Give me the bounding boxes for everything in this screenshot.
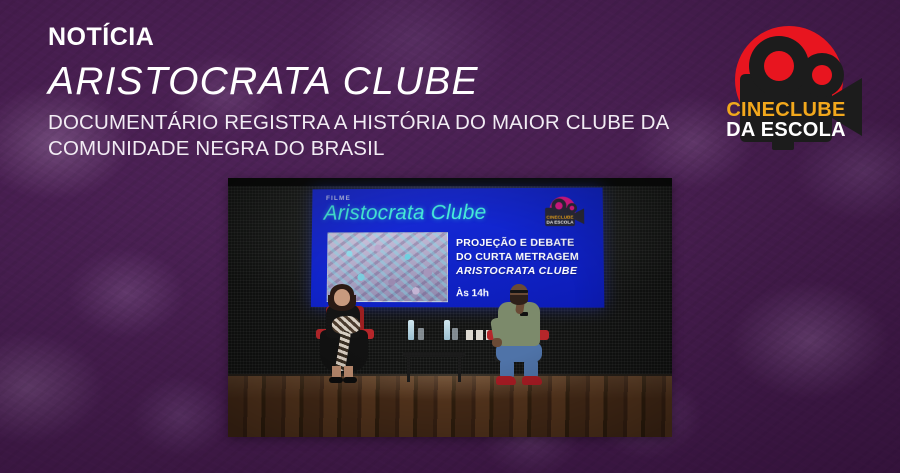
screen-film-title: Aristocrata Clube [324,201,487,225]
camera-foot [772,140,794,150]
stage-floor [228,374,672,437]
camera-reel-large-hole [764,51,794,81]
man-sneaker-left [496,376,516,385]
film-camera-icon: CINECLUBE DA ESCOLA [710,14,892,164]
logo-line2: DA ESCOLA [726,119,846,141]
man-hand-left [492,338,502,347]
page-title: ARISTOCRATA CLUBE [48,62,728,101]
screen-body-text: PROJEÇÃO E DEBATE DO CURTA METRAGEM ARIS… [456,236,579,279]
screen-film-camera-icon: CINECLUBE DA ESCOLA [538,196,595,230]
screen-body-line2: DO CURTA METRAGEM [456,250,579,264]
woman-shoe-right [343,377,357,383]
screen-time-text: Às 14h [456,288,489,299]
stage-table [403,340,465,382]
man-glasses [510,290,528,293]
glass-right [452,328,458,340]
screen-body-line3: ARISTOCRATA CLUBE [456,264,579,278]
cineclube-logo[interactable]: CINECLUBE DA ESCOLA [710,14,892,164]
event-photo: FILME Aristocrata Clube PROJEÇÃO E DEBAT… [228,178,672,437]
woman-head [334,289,350,306]
subtitle-text: DOCUMENTÁRIO REGISTRA A HISTÓRIA DO MAIO… [48,110,708,162]
water-bottle-right [444,320,450,340]
man-beard [510,295,528,305]
water-bottle-left [408,320,414,340]
woman-shoe-left [329,377,343,383]
svg-text:DA ESCOLA: DA ESCOLA [546,220,574,225]
auditorium-ceiling [228,178,672,186]
projection-screen: FILME Aristocrata Clube PROJEÇÃO E DEBAT… [311,188,605,308]
screen-cineclube-logo: CINECLUBE DA ESCOLA [538,196,595,230]
kicker-label: NOTÍCIA [48,24,728,50]
camera-reel-small-hole [812,65,832,85]
glass-left [418,328,424,340]
news-banner: NOTÍCIA ARISTOCRATA CLUBE DOCUMENTÁRIO R… [0,0,900,473]
svg-text:CINECLUBE: CINECLUBE [546,215,573,220]
logo-line1: CINECLUBE [726,99,845,121]
screen-body-line1: PROJEÇÃO E DEBATE [456,236,579,250]
headline-block: NOTÍCIA ARISTOCRATA CLUBE DOCUMENTÁRIO R… [48,24,728,163]
man-sneaker-right [522,376,542,385]
